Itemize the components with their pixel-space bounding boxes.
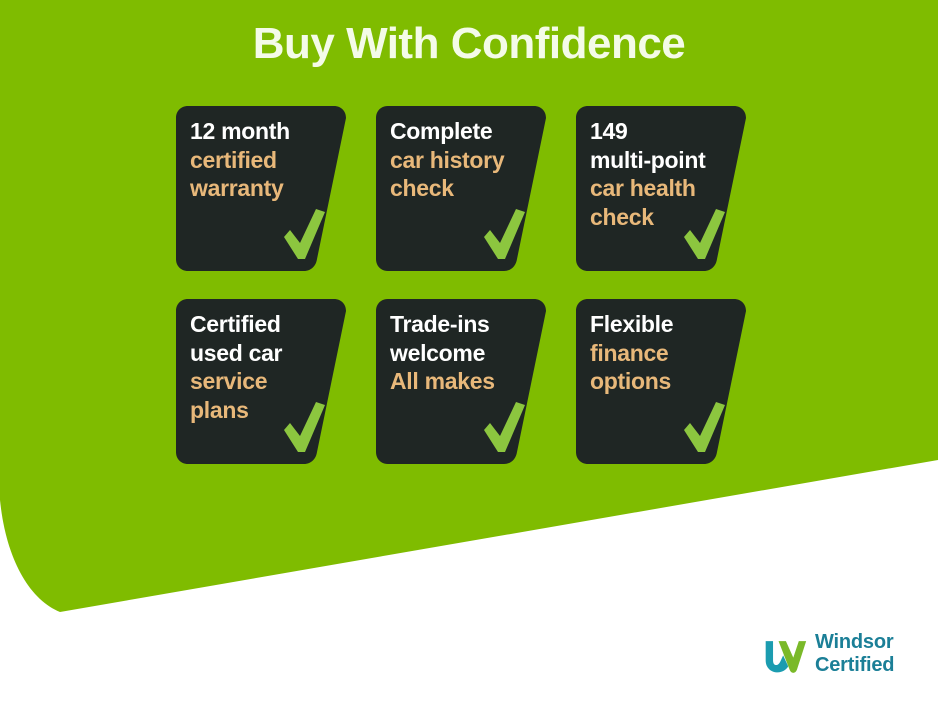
card-line: certified	[190, 146, 336, 175]
card-text-block: Flexiblefinanceoptions	[590, 310, 736, 396]
card-line: Trade-ins	[390, 310, 536, 339]
page-title: Buy With Confidence	[0, 16, 938, 72]
confidence-card: Completecar historycheck	[376, 106, 546, 271]
confidence-card: Certifiedused carserviceplans	[176, 299, 346, 464]
check-mark-icon	[682, 402, 726, 454]
check-mark-icon	[682, 209, 726, 261]
logo-wordmark: Windsor Certified	[815, 631, 894, 677]
check-mark-icon	[482, 209, 526, 261]
card-line: Certified	[190, 310, 336, 339]
card-line: Flexible	[590, 310, 736, 339]
confidence-card: 12 monthcertifiedwarranty	[176, 106, 346, 271]
card-line: service	[190, 367, 336, 396]
card-line: car history	[390, 146, 536, 175]
card-line: finance	[590, 339, 736, 368]
card-text-block: 12 monthcertifiedwarranty	[190, 117, 336, 203]
card-line: used car	[190, 339, 336, 368]
card-line: check	[390, 174, 536, 203]
card-line: All makes	[390, 367, 536, 396]
logo-line-2: Certified	[815, 654, 894, 677]
card-line: car health	[590, 174, 736, 203]
check-mark-icon	[282, 402, 326, 454]
confidence-card: 149multi-pointcar healthcheck	[576, 106, 746, 271]
confidence-card: Trade-inswelcomeAll makes	[376, 299, 546, 464]
poster-canvas: Buy With Confidence 12 monthcertifiedwar…	[0, 0, 938, 704]
check-mark-icon	[482, 402, 526, 454]
card-line: Complete	[390, 117, 536, 146]
windsor-w-icon	[762, 631, 808, 677]
card-text-block: Completecar historycheck	[390, 117, 536, 203]
check-mark-icon	[282, 209, 326, 261]
card-line: 149	[590, 117, 736, 146]
windsor-certified-logo: Windsor Certified	[762, 626, 922, 682]
card-line: welcome	[390, 339, 536, 368]
confidence-card-grid: 12 monthcertifiedwarrantyCompletecar his…	[176, 106, 756, 464]
card-line: options	[590, 367, 736, 396]
card-text-block: Trade-inswelcomeAll makes	[390, 310, 536, 396]
confidence-card: Flexiblefinanceoptions	[576, 299, 746, 464]
card-line: 12 month	[190, 117, 336, 146]
card-line: warranty	[190, 174, 336, 203]
card-line: multi-point	[590, 146, 736, 175]
logo-line-1: Windsor	[815, 631, 894, 654]
